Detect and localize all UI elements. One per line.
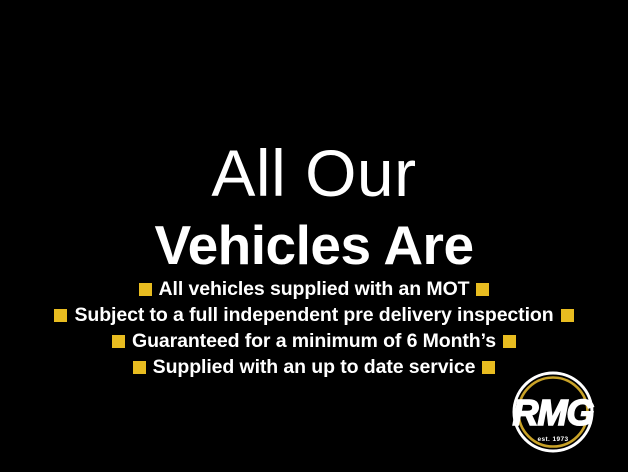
square-bullet-icon: [561, 309, 574, 322]
rmg-logo-icon: RMG est. 1973: [493, 365, 628, 465]
square-bullet-icon: [133, 361, 146, 374]
square-bullet-icon: [139, 283, 152, 296]
feature-item-1: All vehicles supplied with an MOT: [0, 276, 628, 302]
headline-line-1: All Our: [0, 140, 628, 206]
feature-item-label: Supplied with an up to date service: [153, 356, 476, 378]
square-bullet-icon: [503, 335, 516, 348]
rmg-established-text: est. 1973: [537, 436, 568, 443]
rmg-wordmark: RMG: [513, 392, 594, 433]
headline-line-2: Vehicles Are: [0, 218, 628, 273]
feature-item-label: Subject to a full independent pre delive…: [74, 304, 553, 326]
headline-block: All Our Vehicles Are: [0, 140, 628, 273]
feature-item-label: All vehicles supplied with an MOT: [159, 278, 470, 300]
feature-item-2: Subject to a full independent pre delive…: [0, 302, 628, 328]
feature-item-3: Guaranteed for a minimum of 6 Month’s: [0, 328, 628, 354]
square-bullet-icon: [476, 283, 489, 296]
feature-item-label: Guaranteed for a minimum of 6 Month’s: [132, 330, 496, 352]
rmg-logo: RMG est. 1973: [493, 365, 628, 465]
promo-banner: All Our Vehicles Are All vehicles suppli…: [0, 0, 628, 472]
square-bullet-icon: [112, 335, 125, 348]
square-bullet-icon: [54, 309, 67, 322]
